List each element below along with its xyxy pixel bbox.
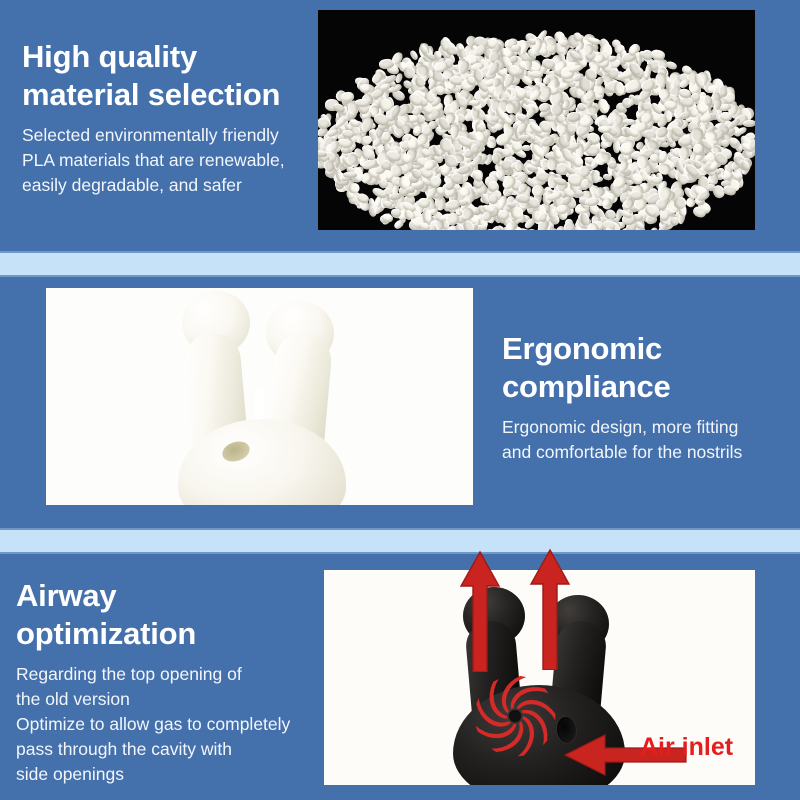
section-3-headline: Airway optimization [16, 577, 328, 653]
section-divider-2 [0, 530, 800, 552]
airflow-arrow-up-right-icon [529, 548, 571, 670]
pellet [469, 100, 481, 106]
swirl-blade [521, 710, 547, 745]
section-1-headline: High quality material selection [22, 38, 322, 114]
air-inlet-label: Air inlet [640, 733, 733, 762]
section-3-body-line-2: the old version [16, 687, 328, 712]
section-3-headline-line-1: Airway [16, 578, 116, 613]
pla-pellets-photo [318, 10, 755, 230]
airflow-swirl-icon [467, 671, 563, 761]
section-2-headline-line-1: Ergonomic [502, 331, 662, 366]
pellet [529, 70, 543, 77]
section-1-headline-line-2: material selection [22, 77, 280, 112]
section-3-body-line-5: side openings [16, 762, 328, 787]
section-2-headline: Ergonomic compliance [502, 330, 792, 406]
section-3-body: Regarding the top opening of the old ver… [16, 653, 328, 786]
pellet [548, 208, 555, 218]
pellet [359, 83, 370, 93]
white-nasal-dilator-photo [46, 288, 473, 505]
swirl-blade [475, 724, 516, 738]
section-3-body-line-4: pass through the cavity with [16, 737, 328, 762]
product-infographic: High quality material selection Selected… [0, 0, 800, 800]
pellet [649, 153, 659, 163]
pellet [597, 97, 611, 114]
pellet [423, 209, 431, 223]
pellet [691, 127, 703, 142]
section-3-body-line-3: Optimize to allow gas to completely [16, 712, 328, 737]
pellet [603, 173, 613, 181]
pellet [546, 37, 556, 46]
section-1-body-line-1: Selected environmentally friendly [22, 123, 322, 148]
section-airway-optimization-text: Airway optimization Regarding the top op… [16, 577, 328, 786]
pellet-pile [318, 10, 755, 230]
section-ergonomic-compliance-text: Ergonomic compliance Ergonomic design, m… [502, 330, 792, 465]
section-high-quality-material-text: High quality material selection Selected… [22, 38, 322, 198]
section-2-body-line-2: and comfortable for the nostrils [502, 440, 792, 465]
section-1-body-line-2: PLA materials that are renewable, [22, 148, 322, 173]
section-1-body-line-3: easily degradable, and safer [22, 173, 322, 198]
section-divider-1 [0, 253, 800, 275]
section-2-body: Ergonomic design, more fitting and comfo… [502, 406, 792, 465]
section-3-body-line-1: Regarding the top opening of [16, 662, 328, 687]
section-1-headline-line-1: High quality [22, 39, 197, 74]
pellet [381, 132, 390, 142]
section-3-headline-line-2: optimization [16, 616, 196, 651]
section-2-headline-line-2: compliance [502, 369, 671, 404]
airflow-arrow-up-left-icon [459, 550, 501, 672]
pellet [471, 143, 480, 153]
pellet [355, 99, 370, 107]
pellet [600, 152, 610, 161]
section-2-body-line-1: Ergonomic design, more fitting [502, 415, 792, 440]
pellet [555, 204, 568, 214]
white-device [150, 288, 370, 505]
section-1-body: Selected environmentally friendly PLA ma… [22, 114, 322, 198]
pellet [659, 210, 669, 221]
